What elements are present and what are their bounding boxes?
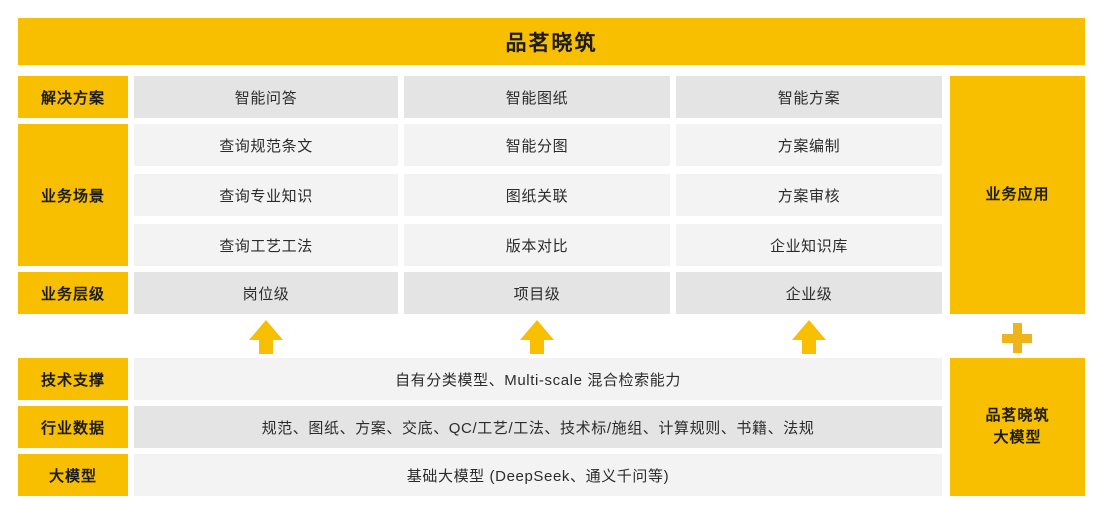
side-panel-model-line1: 品茗晓筑 (985, 407, 1049, 424)
arrow-head (520, 320, 554, 340)
side-panel-large-model-text: 品茗晓筑 大模型 (985, 405, 1049, 450)
arrow-head (249, 320, 283, 340)
row-label-tech-support: 技术支撑 (18, 358, 128, 400)
side-panel-model-line2: 大模型 (993, 429, 1041, 446)
scenario-cell-1-3[interactable]: 方案编制 (676, 124, 942, 166)
scenario-cell-1-1[interactable]: 查询规范条文 (134, 124, 398, 166)
arrow-stem (259, 339, 273, 354)
solution-cell-3[interactable]: 智能方案 (676, 76, 942, 118)
arrow-up-icon-3 (792, 320, 826, 354)
arrow-stem (530, 339, 544, 354)
plus-bar-vertical (1013, 323, 1022, 353)
row-label-solution: 解决方案 (18, 76, 128, 118)
solution-cell-2[interactable]: 智能图纸 (404, 76, 670, 118)
level-cell-1[interactable]: 岗位级 (134, 272, 398, 314)
arrow-up-icon-2 (520, 320, 554, 354)
row-label-level: 业务层级 (18, 272, 128, 314)
side-panel-large-model[interactable]: 品茗晓筑 大模型 (950, 358, 1085, 496)
arrow-head (792, 320, 826, 340)
level-cell-2[interactable]: 项目级 (404, 272, 670, 314)
scenario-cell-3-1[interactable]: 查询工艺工法 (134, 224, 398, 266)
large-model-value[interactable]: 基础大模型 (DeepSeek、通义千问等) (134, 454, 942, 496)
arrow-stem (802, 339, 816, 354)
scenario-cell-3-3[interactable]: 企业知识库 (676, 224, 942, 266)
page-title: 品茗晓筑 (506, 27, 598, 57)
row-label-scenario: 业务场景 (18, 124, 128, 266)
scenario-cell-3-2[interactable]: 版本对比 (404, 224, 670, 266)
scenario-cell-2-3[interactable]: 方案审核 (676, 174, 942, 216)
scenario-cell-1-2[interactable]: 智能分图 (404, 124, 670, 166)
scenario-cell-2-1[interactable]: 查询专业知识 (134, 174, 398, 216)
row-label-industry-data: 行业数据 (18, 406, 128, 448)
side-panel-business-application[interactable]: 业务应用 (950, 76, 1085, 314)
solution-cell-1[interactable]: 智能问答 (134, 76, 398, 118)
arrow-up-icon-1 (249, 320, 283, 354)
architecture-diagram: 品茗晓筑 解决方案 智能问答 智能图纸 智能方案 业务场景 查询规范条文 智能分… (0, 0, 1101, 512)
diagram-title-bar: 品茗晓筑 (18, 18, 1085, 65)
industry-data-value[interactable]: 规范、图纸、方案、交底、QC/工艺/工法、技术标/施组、计算规则、书籍、法规 (134, 406, 942, 448)
row-label-large-model: 大模型 (18, 454, 128, 496)
tech-support-value[interactable]: 自有分类模型、Multi-scale 混合检索能力 (134, 358, 942, 400)
scenario-cell-2-2[interactable]: 图纸关联 (404, 174, 670, 216)
plus-icon (1002, 323, 1032, 353)
level-cell-3[interactable]: 企业级 (676, 272, 942, 314)
